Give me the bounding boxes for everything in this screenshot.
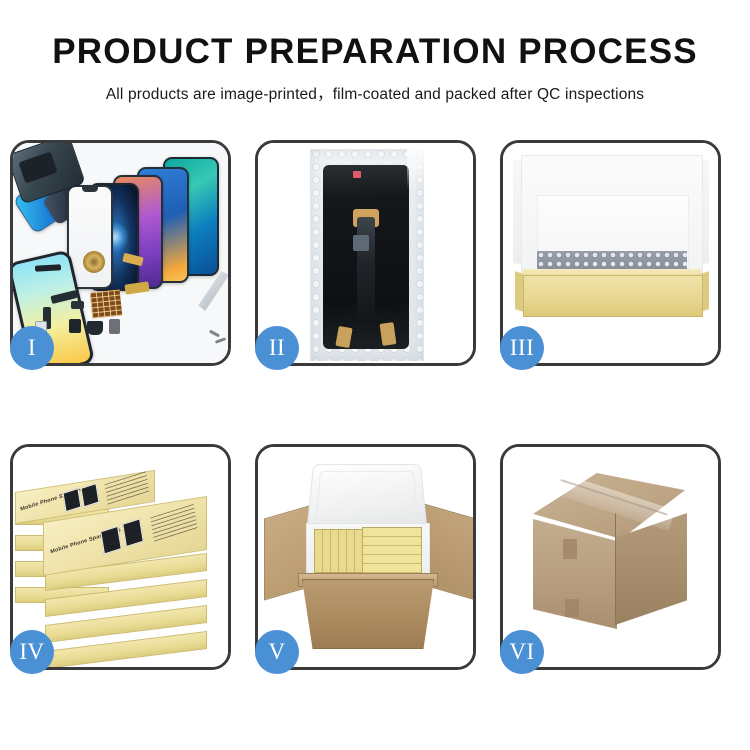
step-badge-3: III: [500, 326, 544, 370]
plastic-sheen: [407, 149, 433, 189]
small-part-icon: [87, 321, 103, 335]
page-title: PRODUCT PREPARATION PROCESS: [0, 34, 750, 71]
bubble-wrap-bag-icon: [310, 149, 424, 361]
small-part-icon: [69, 319, 81, 333]
process-step-panel-3: III: [500, 140, 721, 366]
box-window-icon: [63, 488, 82, 512]
step-badge-4: IV: [10, 630, 54, 674]
process-steps-grid: I II: [10, 140, 740, 670]
box-spec-lines: [105, 471, 150, 505]
small-part-icon: [71, 301, 84, 309]
process-step-panel-2: II: [255, 140, 476, 366]
screws-icon: [209, 329, 228, 345]
box-window-icon: [100, 526, 122, 555]
connector-icon: [380, 322, 397, 346]
box-window-icon: [122, 518, 144, 547]
connector-icon: [335, 326, 352, 348]
foam-lid-icon: [306, 464, 427, 530]
carton-tab-icon: [563, 539, 577, 559]
step-badge-2: II: [255, 326, 299, 370]
process-step-panel-5: V: [255, 444, 476, 670]
small-part-icon: [109, 319, 120, 334]
packed-yellow-boxes-icon: [362, 527, 422, 575]
flex-ribbon-icon: [357, 217, 375, 323]
process-step-panel-1: I: [10, 140, 231, 366]
box-window-icon: [81, 483, 100, 507]
yellow-tray-icon: [523, 275, 703, 317]
step-badge-5: V: [255, 630, 299, 674]
chip-icon: [353, 235, 369, 251]
step-badge-1: I: [10, 326, 54, 370]
carton-edge: [615, 513, 616, 625]
process-step-panel-6: VI: [500, 444, 721, 670]
carton-tab-icon: [565, 599, 579, 617]
lcd-screen-icon: [323, 165, 409, 349]
step-badge-6: VI: [500, 630, 544, 674]
speaker-part-icon: [83, 251, 105, 273]
chip-board-part-icon: [90, 290, 123, 319]
page-subtitle: All products are image-printed，film-coat…: [0, 82, 750, 104]
box-spec-lines: [150, 504, 198, 543]
page-header: PRODUCT PREPARATION PROCESS All products…: [0, 0, 750, 104]
label-sticker-icon: [353, 171, 361, 178]
carton-body-icon: [302, 579, 434, 649]
process-step-panel-4: Mobile Phone Spare Parts Mobile Phone Sp…: [10, 444, 231, 670]
